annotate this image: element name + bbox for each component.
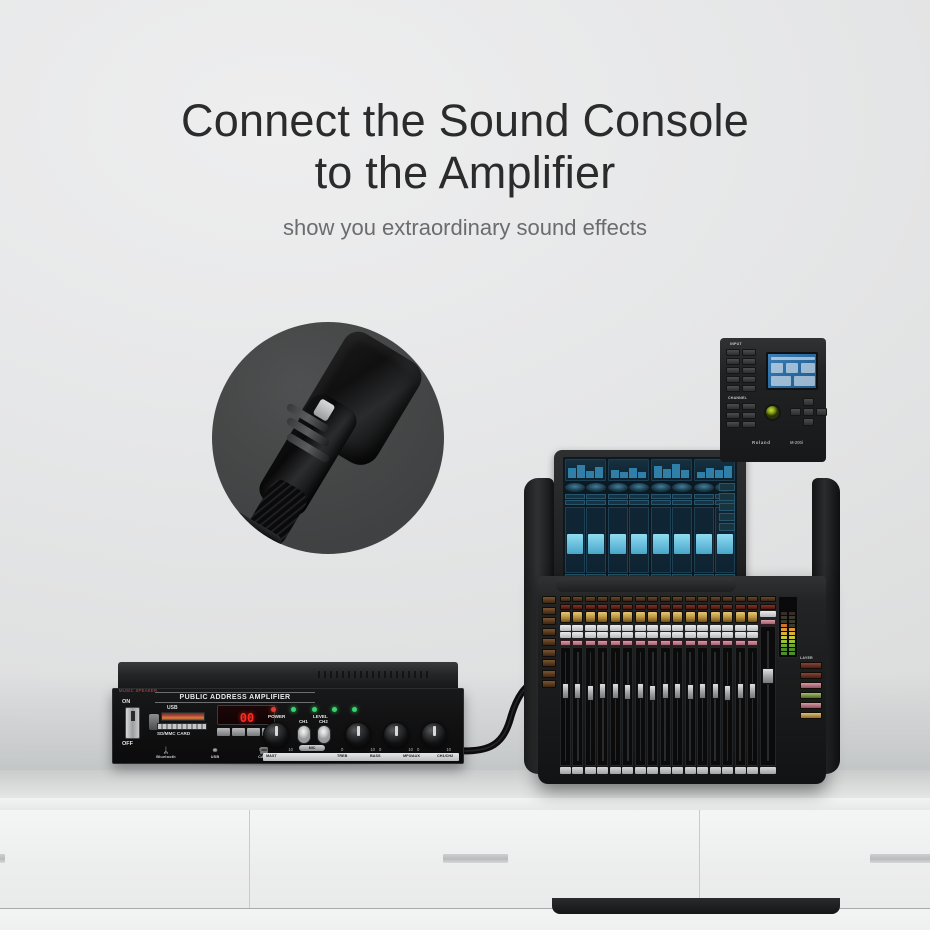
tablet-meter xyxy=(565,459,606,481)
tablet-channel[interactable] xyxy=(586,483,606,579)
cursor-right-button[interactable] xyxy=(816,408,827,416)
power-led xyxy=(271,707,276,712)
knob-label-bass: BASS xyxy=(370,754,381,758)
channel-strip[interactable] xyxy=(735,596,746,774)
channel-section-label: CHANNEL xyxy=(728,396,747,400)
channel-strip[interactable] xyxy=(660,596,671,774)
layer-button[interactable] xyxy=(800,662,822,669)
mic-jack-label: MIC xyxy=(299,745,325,751)
tablet-channel[interactable] xyxy=(694,483,714,579)
drawer-handle-right[interactable] xyxy=(870,854,930,863)
armrest xyxy=(556,578,736,592)
knob-treble[interactable] xyxy=(345,722,371,748)
transport-button-prev[interactable] xyxy=(217,728,230,736)
power-switch[interactable] xyxy=(125,707,140,739)
ch2-mic-jack[interactable] xyxy=(317,725,331,744)
headline-line-2: to the Amplifier xyxy=(0,147,930,199)
level-led-2 xyxy=(312,707,317,712)
left-button[interactable] xyxy=(542,680,556,688)
channel-strip[interactable] xyxy=(685,596,696,774)
input-button[interactable] xyxy=(726,349,740,356)
fader-cap[interactable] xyxy=(724,685,731,701)
amplifier-model-label: PUBLIC ADDRESS AMPLIFIER xyxy=(155,692,315,703)
ch1-label: CH1 xyxy=(299,719,308,724)
cursor-enter-button[interactable] xyxy=(803,408,814,416)
product-banner: Connect the Sound Console to the Amplifi… xyxy=(0,0,930,930)
left-button[interactable] xyxy=(542,596,556,604)
knob-bass[interactable] xyxy=(383,722,409,748)
usb-slot-label: USB xyxy=(167,705,178,711)
fader-cap[interactable] xyxy=(687,684,694,700)
input-button[interactable] xyxy=(726,385,740,392)
level-led-3 xyxy=(332,707,337,712)
channel-strip[interactable] xyxy=(610,596,621,774)
model-name: M-200i xyxy=(790,440,803,445)
input-section-label: INPUT xyxy=(730,342,742,346)
layer-button[interactable] xyxy=(800,672,822,679)
channel-button[interactable] xyxy=(742,403,756,410)
master-fader-cap[interactable] xyxy=(762,668,774,684)
channel-button[interactable] xyxy=(742,412,756,419)
knob-label-bar: MAST TREB BASS MP3/AUX CH1/CH2 xyxy=(263,753,459,761)
sd-card-slot[interactable] xyxy=(157,723,207,730)
usb-slot[interactable] xyxy=(161,712,205,721)
input-button[interactable] xyxy=(726,358,740,365)
left-button[interactable] xyxy=(542,628,556,636)
tablet[interactable] xyxy=(554,450,746,588)
knob-label-ch: CH1/CH2 xyxy=(437,754,453,758)
cursor-down-button[interactable] xyxy=(803,418,814,426)
tablet-channel[interactable] xyxy=(651,483,671,579)
input-button[interactable] xyxy=(742,349,756,356)
ch2-label: CH2 xyxy=(319,719,328,724)
tablet-screen[interactable] xyxy=(563,457,737,581)
page-title: Connect the Sound Console to the Amplifi… xyxy=(0,95,930,199)
tablet-channel[interactable] xyxy=(565,483,585,579)
led-group xyxy=(271,707,357,712)
bluetooth-glyph: ᛦ xyxy=(153,745,179,755)
amplifier-front-panel[interactable]: PUBLIC ADDRESS AMPLIFIER ON OFF USB SD/M… xyxy=(112,688,464,764)
fader-cap[interactable] xyxy=(712,683,719,699)
channel-strip[interactable] xyxy=(597,596,608,774)
ch1-mic-jack[interactable] xyxy=(297,725,311,744)
meter-column-right xyxy=(789,599,795,655)
channel-strip[interactable] xyxy=(572,596,583,774)
knob-bass-min: 0 xyxy=(379,747,381,752)
page-subtitle: show you extraordinary sound effects xyxy=(0,215,930,241)
cursor-pad[interactable] xyxy=(790,398,827,426)
input-button[interactable] xyxy=(726,376,740,383)
tablet-channel[interactable] xyxy=(608,483,628,579)
daw-button[interactable] xyxy=(800,702,822,709)
knob-treble-max: 10 xyxy=(370,747,375,752)
display-header-label: MUSIC SPEAKER xyxy=(119,688,157,693)
console-surface[interactable]: LAYER xyxy=(538,576,826,784)
fader-cap[interactable] xyxy=(574,683,581,699)
fader-cap[interactable] xyxy=(674,683,681,699)
channel-strip[interactable] xyxy=(622,596,633,774)
tablet-meter xyxy=(608,459,649,481)
left-button[interactable] xyxy=(542,617,556,625)
value-encoder-knob[interactable] xyxy=(764,404,781,421)
media-slot-block[interactable]: USB SD/MMC CARD xyxy=(149,706,211,738)
drawer-center[interactable] xyxy=(250,810,700,910)
drawer-row xyxy=(0,810,930,910)
cursor-up-button[interactable] xyxy=(803,398,814,406)
input-button[interactable] xyxy=(742,376,756,383)
channel-strip[interactable] xyxy=(722,596,733,774)
drawer-handle-left[interactable] xyxy=(0,854,5,863)
level-meter xyxy=(778,596,798,658)
mixing-console[interactable]: INPUT CHANNEL xyxy=(524,448,840,784)
fader-cap[interactable] xyxy=(749,683,756,699)
left-button[interactable] xyxy=(542,670,556,678)
knob-label-treble: TREB xyxy=(337,754,347,758)
sd-slot-label: SD/MMC CARD xyxy=(157,731,190,736)
knob-mp3-aux-max: 10 xyxy=(446,747,451,752)
tablet-meter xyxy=(651,459,692,481)
tablet-meter-row xyxy=(565,459,735,481)
level-led-4 xyxy=(352,707,357,712)
meter-column-left xyxy=(781,599,787,655)
tablet-channel[interactable] xyxy=(672,483,692,579)
lcd-screen[interactable] xyxy=(766,352,818,390)
transport-button-next[interactable] xyxy=(247,728,260,736)
knob-bass-max: 10 xyxy=(408,747,413,752)
left-button[interactable] xyxy=(542,659,556,667)
bluetooth-label: Bluetooth xyxy=(153,755,179,759)
right-button-column[interactable] xyxy=(800,662,822,719)
input-button[interactable] xyxy=(742,358,756,365)
channel-button[interactable] xyxy=(742,421,756,428)
usb-glyph: ⚭ xyxy=(202,745,228,755)
knob-treble-min: 0 xyxy=(341,747,343,752)
fader-cap[interactable] xyxy=(737,683,744,699)
knob-master-max: 10 xyxy=(288,747,293,752)
channel-button[interactable] xyxy=(726,412,740,419)
knob-label-mp3-aux: MP3/AUX xyxy=(403,754,420,758)
knob-mp3-aux[interactable] xyxy=(421,722,447,748)
headline-line-1: Connect the Sound Console xyxy=(0,95,930,147)
xlr-connector-closeup xyxy=(212,322,444,554)
tablet-side-buttons[interactable] xyxy=(719,483,735,579)
drawer-right[interactable] xyxy=(700,810,930,910)
brand-logo: Roland xyxy=(752,440,770,445)
fader-cap[interactable] xyxy=(587,685,594,701)
channel-strip[interactable] xyxy=(710,596,721,774)
daw-button[interactable] xyxy=(800,712,822,719)
level-led-1 xyxy=(291,707,296,712)
left-button[interactable] xyxy=(542,607,556,615)
channel-strip[interactable] xyxy=(672,596,683,774)
input-button-grid[interactable] xyxy=(726,349,756,392)
transport-button-play[interactable] xyxy=(232,728,245,736)
fader-cap[interactable] xyxy=(662,683,669,699)
fader-cap[interactable] xyxy=(649,685,656,701)
fader-cap[interactable] xyxy=(562,683,569,699)
fader-cap[interactable] xyxy=(637,683,644,699)
channel-strip[interactable] xyxy=(560,596,571,774)
left-button-column[interactable] xyxy=(542,596,556,688)
drawer-left[interactable] xyxy=(0,810,250,910)
amplifier[interactable]: PUBLIC ADDRESS AMPLIFIER ON OFF USB SD/M… xyxy=(112,662,464,764)
daw-button[interactable] xyxy=(800,682,822,689)
knob-master[interactable] xyxy=(263,722,289,748)
channel-button[interactable] xyxy=(726,403,740,410)
tablet-channel-strips[interactable] xyxy=(565,483,735,579)
amplifier-top-cover xyxy=(118,662,458,690)
console-front-edge xyxy=(552,898,840,914)
knob-mp3-aux-min: 0 xyxy=(417,747,419,752)
channel-strip[interactable] xyxy=(747,596,758,774)
tablet-channel[interactable] xyxy=(629,483,649,579)
daw-button[interactable] xyxy=(800,692,822,699)
usb-icon: ⚭ USB xyxy=(202,745,228,759)
input-button[interactable] xyxy=(726,367,740,374)
usb-label: USB xyxy=(202,755,228,759)
fader-cap[interactable] xyxy=(624,684,631,700)
fader-cap[interactable] xyxy=(699,683,706,699)
drawer-handle-center[interactable] xyxy=(443,854,508,863)
power-switch-off-label: OFF xyxy=(122,741,133,747)
knob-label-master: MAST xyxy=(266,754,277,758)
channel-button[interactable] xyxy=(726,421,740,428)
cursor-left-button[interactable] xyxy=(790,408,801,416)
left-button[interactable] xyxy=(542,638,556,646)
master-strip[interactable] xyxy=(760,596,776,774)
power-switch-on-label: ON xyxy=(122,699,130,705)
left-button[interactable] xyxy=(542,649,556,657)
vent-slots xyxy=(318,671,428,678)
input-button[interactable] xyxy=(742,385,756,392)
channel-strip[interactable] xyxy=(647,596,658,774)
channel-button-grid[interactable] xyxy=(726,403,756,428)
tablet-meter xyxy=(694,459,735,481)
knob-row[interactable]: 0 10 CH1 CH2 MIC 0 10 0 10 xyxy=(263,719,459,751)
channel-strip[interactable] xyxy=(697,596,708,774)
console-control-section[interactable]: INPUT CHANNEL xyxy=(720,338,826,462)
fader-cap[interactable] xyxy=(599,683,606,699)
layer-section-label: LAYER xyxy=(800,656,813,660)
bluetooth-icon: ᛦ Bluetooth xyxy=(153,745,179,759)
knob-master-min: 0 xyxy=(259,747,261,752)
channel-strip[interactable] xyxy=(585,596,596,774)
channel-strip[interactable] xyxy=(635,596,646,774)
channel-strip-row[interactable] xyxy=(560,596,758,774)
fader-cap[interactable] xyxy=(612,683,619,699)
input-button[interactable] xyxy=(742,367,756,374)
